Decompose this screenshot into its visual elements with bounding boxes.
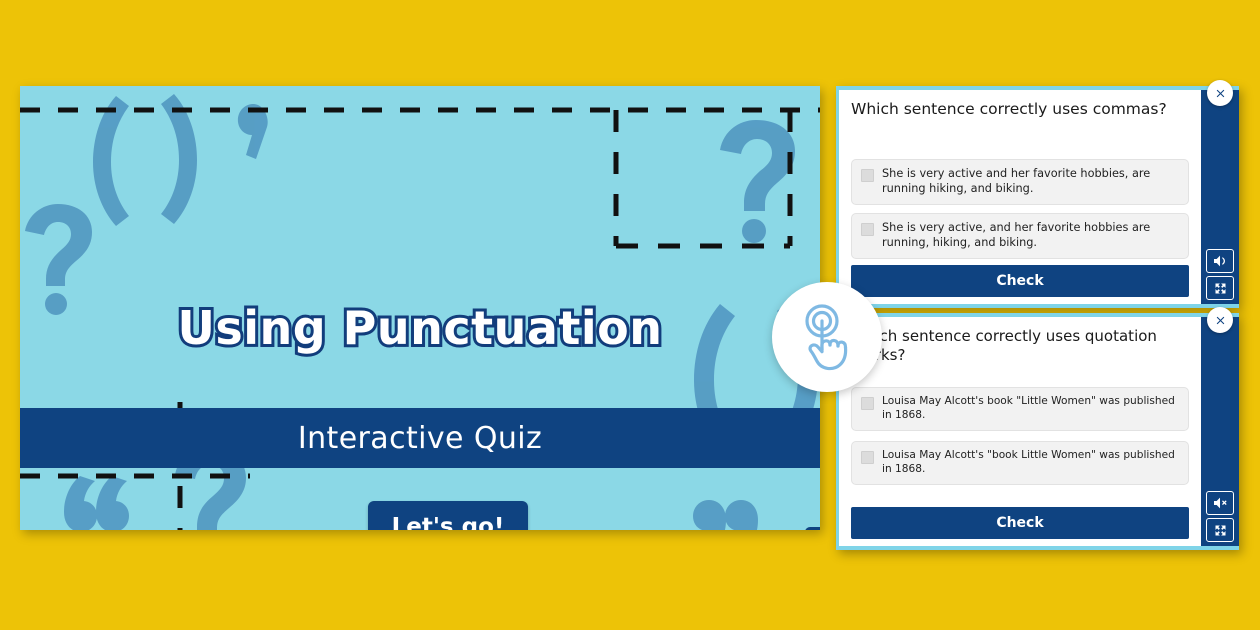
answer-list: Louisa May Alcott's book "Little Women" … bbox=[851, 371, 1189, 507]
answer-option[interactable]: Louisa May Alcott's "book Little Women" … bbox=[851, 441, 1189, 485]
question-text: Which sentence correctly uses commas? bbox=[851, 100, 1189, 122]
quiz-panel-commas: Which sentence correctly uses commas? Sh… bbox=[836, 86, 1239, 308]
panel-control-rail bbox=[1201, 90, 1239, 304]
answer-label: She is very active, and her favorite hob… bbox=[882, 221, 1179, 251]
answer-checkbox[interactable] bbox=[861, 223, 874, 236]
answer-checkbox[interactable] bbox=[861, 397, 874, 410]
answer-list: She is very active and her favorite hobb… bbox=[851, 128, 1189, 265]
question-text: Which sentence correctly uses quotation … bbox=[851, 327, 1189, 365]
answer-label: Louisa May Alcott's book "Little Women" … bbox=[882, 395, 1179, 423]
title-slide: Using Punctuation Interactive Quiz Let's… bbox=[20, 86, 820, 530]
answer-option[interactable]: She is very active, and her favorite hob… bbox=[851, 213, 1189, 259]
quiz-panel-quotation-marks: Which sentence correctly uses quotation … bbox=[836, 313, 1239, 550]
panel-control-rail bbox=[1201, 317, 1239, 546]
fullscreen-expand-icon[interactable] bbox=[1206, 276, 1234, 300]
answer-checkbox[interactable] bbox=[861, 451, 874, 464]
close-x-icon[interactable] bbox=[1207, 307, 1233, 333]
quiz-panel-body: Which sentence correctly uses quotation … bbox=[839, 317, 1201, 546]
answer-label: She is very active and her favorite hobb… bbox=[882, 167, 1179, 197]
answer-label: Louisa May Alcott's "book Little Women" … bbox=[882, 449, 1179, 477]
close-x-icon[interactable] bbox=[1207, 80, 1233, 106]
speaker-on-icon[interactable] bbox=[805, 527, 820, 530]
answer-option[interactable]: Louisa May Alcott's book "Little Women" … bbox=[851, 387, 1189, 431]
answer-option[interactable]: She is very active and her favorite hobb… bbox=[851, 159, 1189, 205]
page-title: Using Punctuation bbox=[20, 301, 820, 355]
speaker-on-icon[interactable] bbox=[1206, 249, 1234, 273]
speaker-muted-icon[interactable] bbox=[1206, 491, 1234, 515]
check-button[interactable]: Check bbox=[851, 265, 1189, 297]
quiz-panel-body: Which sentence correctly uses commas? Sh… bbox=[839, 90, 1201, 304]
interactive-quiz-band: Interactive Quiz bbox=[20, 408, 820, 468]
answer-checkbox[interactable] bbox=[861, 169, 874, 182]
fullscreen-expand-icon[interactable] bbox=[1206, 518, 1234, 542]
check-button[interactable]: Check bbox=[851, 507, 1189, 539]
interactive-quiz-label: Interactive Quiz bbox=[298, 421, 542, 456]
tap-click-hand-icon bbox=[772, 282, 882, 392]
lets-go-button[interactable]: Let's go! bbox=[368, 501, 528, 530]
